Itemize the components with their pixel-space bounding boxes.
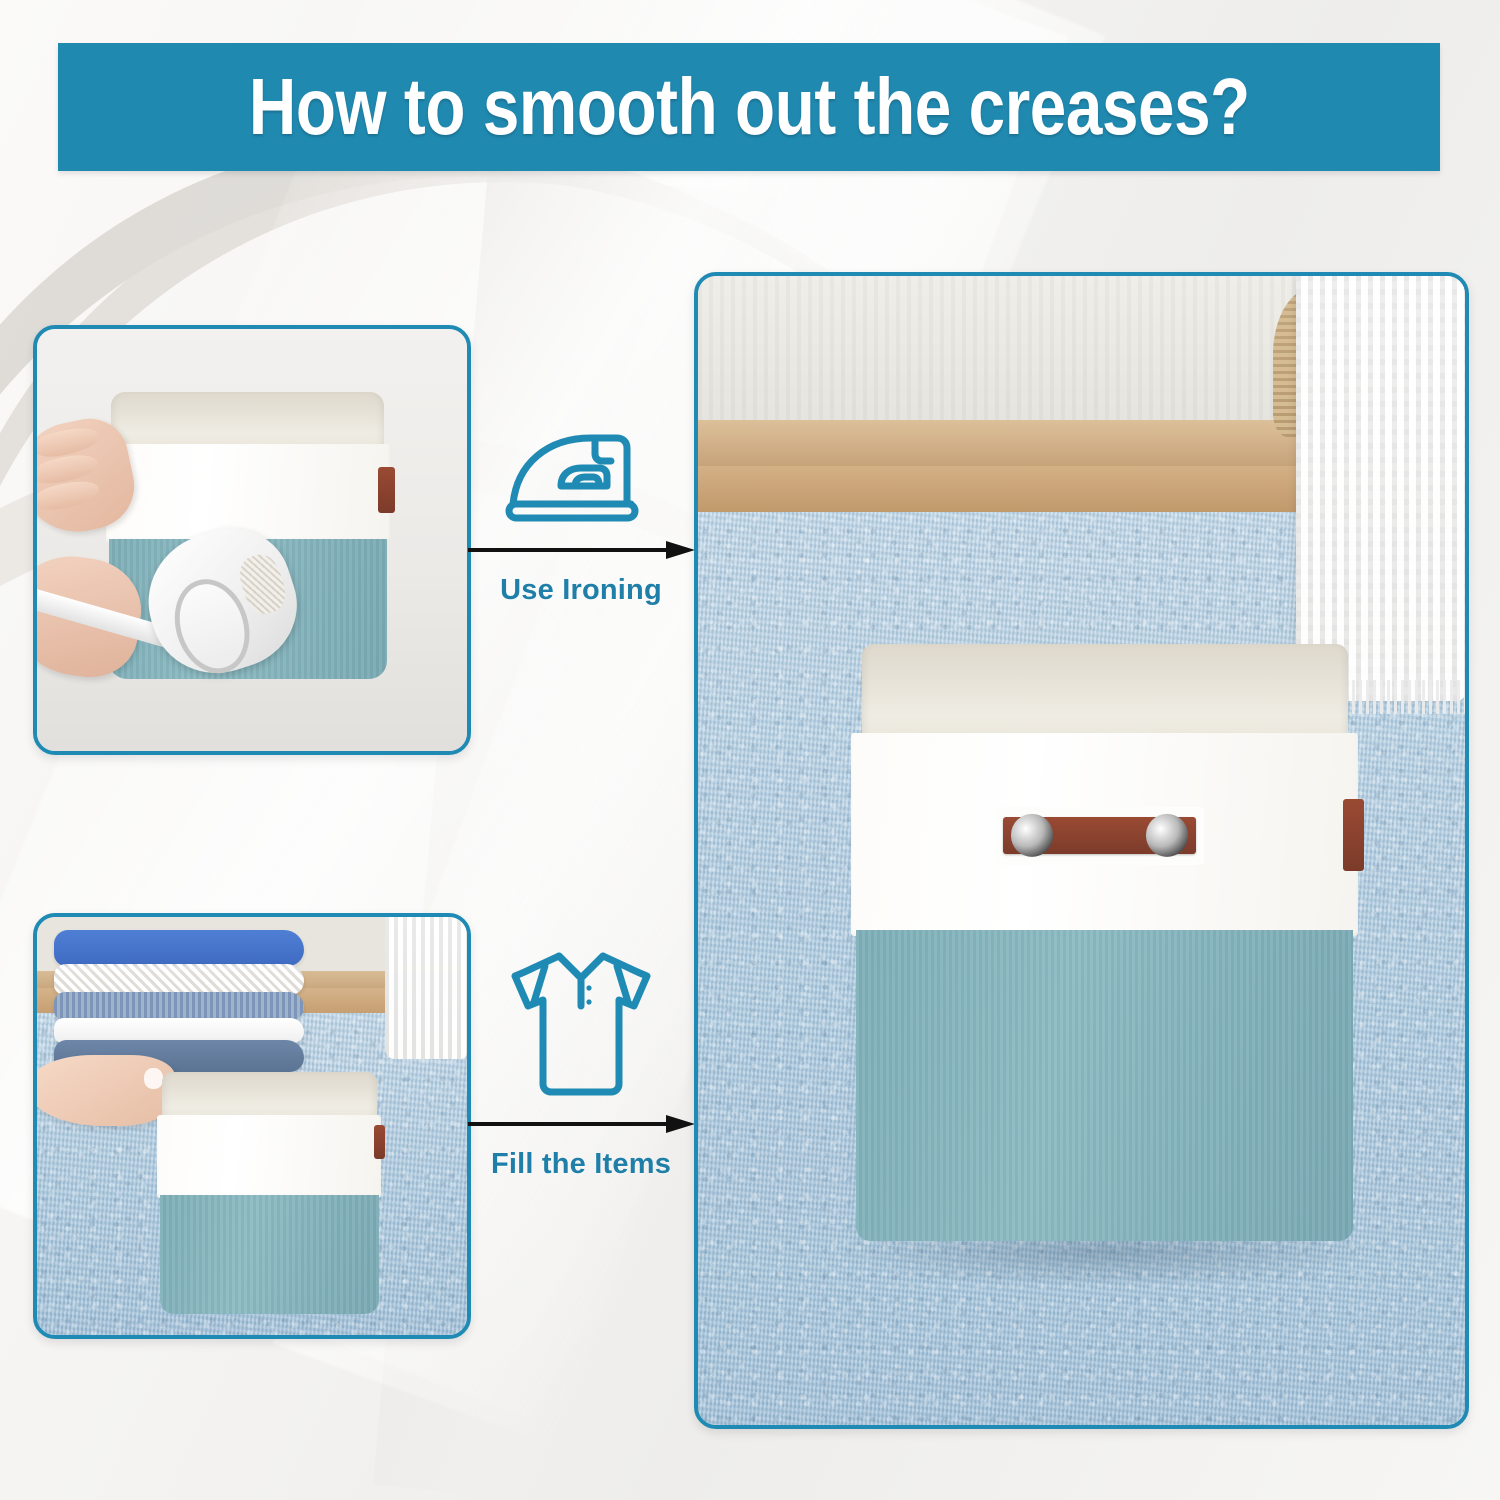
handle-rivet-right	[1146, 814, 1188, 856]
title-banner: How to smooth out the creases?	[58, 43, 1440, 171]
storage-basket-hero	[851, 644, 1357, 1241]
arrow-right-icon	[466, 539, 696, 566]
finger	[37, 423, 101, 460]
photo-filling-step	[33, 913, 471, 1339]
step-filling: Fill the Items	[461, 944, 701, 1181]
leather-handle	[1003, 817, 1195, 854]
white-curtain	[1296, 276, 1465, 701]
photo-content	[698, 276, 1465, 1425]
basket-white-band	[157, 1115, 381, 1197]
basket-teal-body	[160, 1195, 379, 1314]
folded-clothes-stack	[54, 930, 303, 1072]
photo-content	[37, 917, 467, 1335]
infographic-page: How to smooth out the creases?	[0, 0, 1500, 1500]
step-label-filling: Fill the Items	[491, 1148, 671, 1181]
iron-icon	[499, 424, 663, 533]
step-label-ironing: Use Ironing	[500, 574, 662, 607]
photo-ironing-step	[33, 325, 471, 755]
photo-main-product	[694, 272, 1469, 1429]
hand-holding-clothes	[37, 1055, 175, 1126]
handle-rivet-left	[1011, 814, 1053, 856]
photo-content	[37, 329, 467, 751]
basket-teal-body	[856, 930, 1352, 1241]
folded-cloth-blue	[54, 930, 303, 967]
storage-basket	[157, 1072, 381, 1314]
arrow-right-icon	[466, 1113, 696, 1140]
white-curtain	[385, 917, 467, 1059]
tshirt-icon	[501, 944, 661, 1107]
basket-side-handle	[1343, 799, 1363, 871]
basket-side-handle	[374, 1125, 385, 1159]
folded-cloth-white-knit	[54, 964, 303, 995]
basket-side-handle	[378, 467, 395, 513]
page-title: How to smooth out the creases?	[249, 67, 1250, 147]
step-ironing: Use Ironing	[461, 424, 701, 607]
folded-cloth-striped	[54, 992, 303, 1020]
folded-cloth-white	[54, 1018, 303, 1044]
